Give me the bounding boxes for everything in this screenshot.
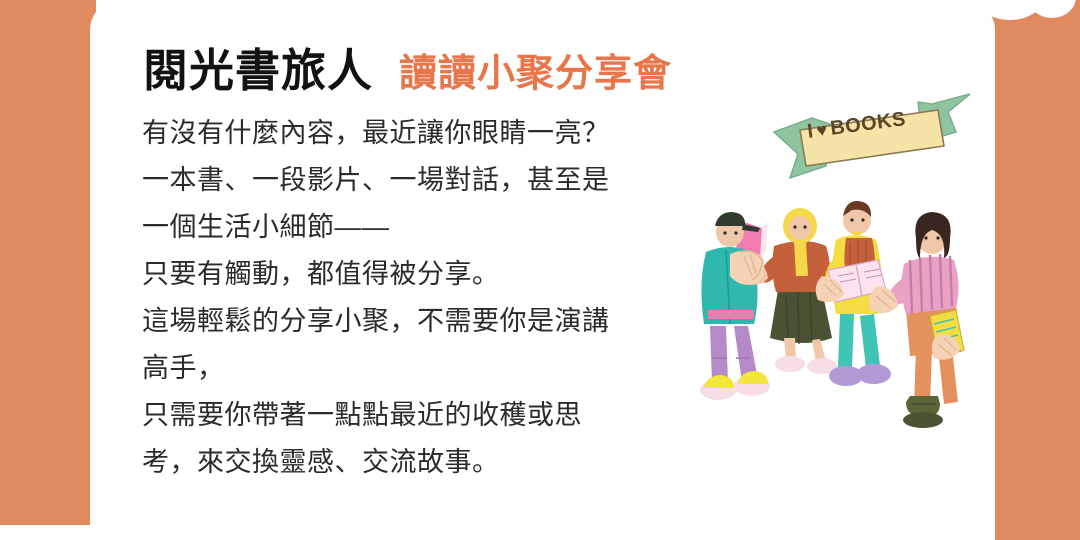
page-title: 閱光書旅人 讀讀小聚分享會 <box>143 34 672 99</box>
body-line: 這場輕鬆的分享小聚，不需要你是演講 <box>142 298 702 345</box>
body-line: 只要有觸動，都值得被分享。 <box>142 251 702 298</box>
body-line: 考，來交換靈感、交流故事。 <box>142 439 702 486</box>
right-orange-band <box>985 0 1080 540</box>
body-line: 高手， <box>142 345 702 392</box>
body-line: 只需要你帶著一點點最近的收穫或思 <box>142 392 702 439</box>
title-main: 閱光書旅人 <box>143 34 373 99</box>
body-copy: 有沒有什麼內容，最近讓你眼睛一亮？ 一本書、一段影片、一場對話，甚至是 一個生活… <box>142 110 702 486</box>
heart-icon: ♥ <box>815 119 829 141</box>
i-love-books-banner: I ♥ BOOKS <box>772 88 972 182</box>
poster-canvas: 閱光書旅人 讀讀小聚分享會 有沒有什麼內容，最近讓你眼睛一亮？ 一本書、一段影片… <box>0 0 1080 540</box>
body-line: 有沒有什麼內容，最近讓你眼睛一亮？ <box>142 110 702 157</box>
title-accent: 讀讀小聚分享會 <box>399 42 672 97</box>
person-striped-top <box>869 212 964 428</box>
left-orange-band <box>0 0 96 525</box>
body-line: 一個生活小細節—— <box>142 204 702 251</box>
people-reading-illustration <box>700 198 985 450</box>
body-line: 一本書、一段影片、一場對話，甚至是 <box>142 157 702 204</box>
